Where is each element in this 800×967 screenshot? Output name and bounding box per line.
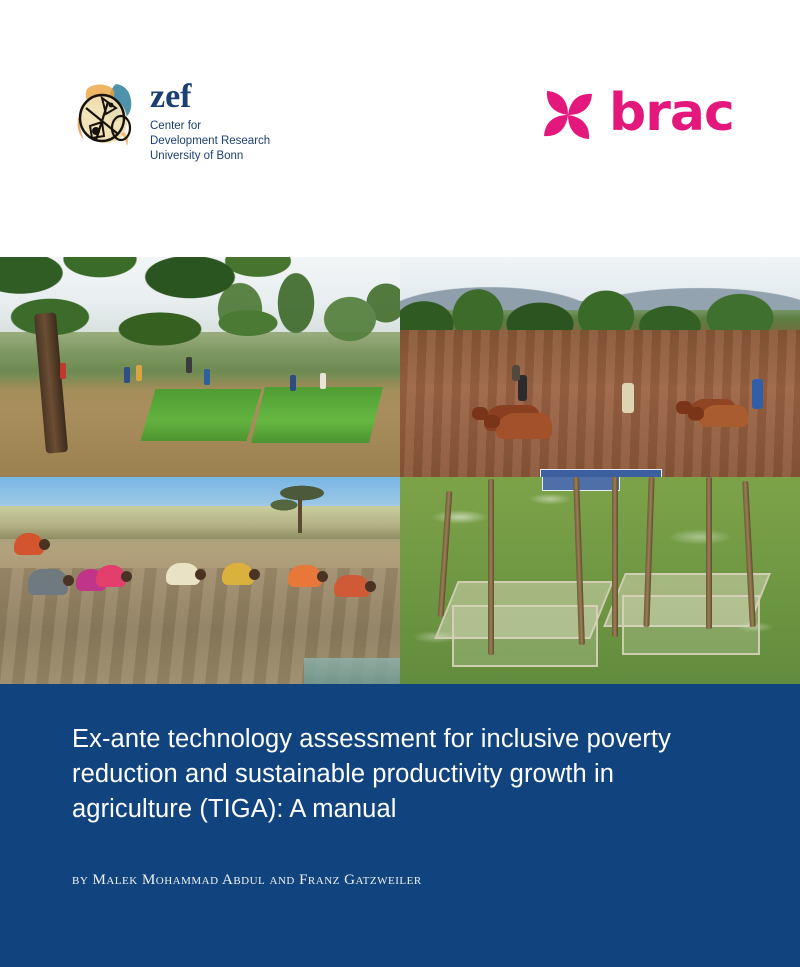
zef-wordmark-block: zef Center for Development Research Univ… — [150, 78, 270, 165]
zef-watercolor-mark-icon — [76, 78, 138, 150]
brac-wordmark: brac — [609, 87, 734, 143]
photo-collage — [0, 257, 800, 684]
brac-pinwheel-icon — [535, 82, 601, 148]
zef-subtitle-line-1: Center for — [150, 119, 270, 134]
photo-rice-nursery-orchard — [0, 257, 400, 477]
field-signboard — [540, 469, 662, 477]
author-byline: by Malek Mohammad Abdul and Franz Gatzwe… — [72, 872, 422, 889]
photo-aquaculture-cages — [400, 477, 800, 684]
zef-wordmark: zef — [150, 80, 270, 114]
zef-logo: zef Center for Development Research Univ… — [76, 78, 270, 165]
pond-signboard — [542, 477, 620, 491]
zef-subtitle-line-3: University of Bonn — [150, 149, 270, 164]
photo-oxen-ploughing — [400, 257, 800, 477]
page-title: Ex-ante technology assessment for inclus… — [72, 722, 682, 828]
zef-subtitle-line-2: Development Research — [150, 134, 270, 149]
brac-logo: brac — [535, 82, 734, 148]
title-banner: Ex-ante technology assessment for inclus… — [0, 684, 800, 967]
cover-page: zef Center for Development Research Univ… — [0, 0, 800, 967]
photo-farmers-transplanting — [0, 477, 400, 684]
logo-bar: zef Center for Development Research Univ… — [0, 0, 800, 257]
